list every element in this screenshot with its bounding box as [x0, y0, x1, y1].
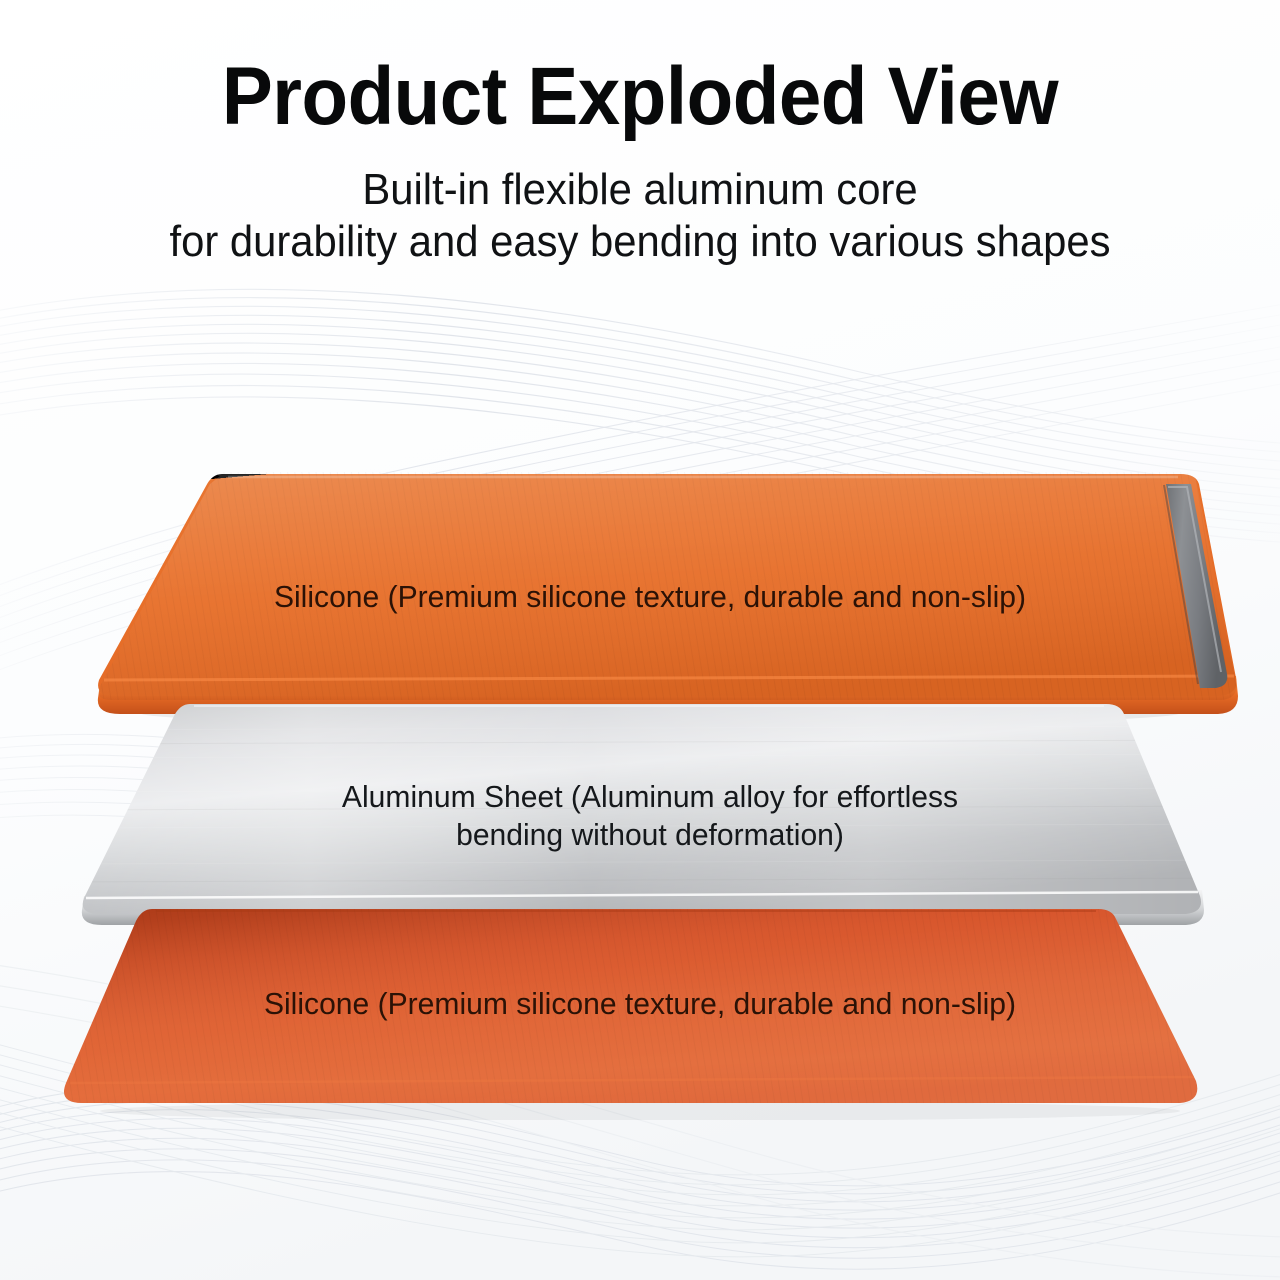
subtitle-line-2: for durability and easy bending into var…	[32, 216, 1248, 268]
page-title: Product Exploded View	[45, 0, 1235, 138]
subtitle-line-1: Built-in flexible aluminum core	[32, 164, 1248, 216]
aluminum-sheet-shape	[40, 700, 1260, 940]
page-subtitle: Built-in flexible aluminum core for dura…	[32, 138, 1248, 268]
layer-bottom-silicone: Silicone (Premium silicone texture, dura…	[20, 905, 1260, 1120]
header-block: Product Exploded View Built-in flexible …	[0, 0, 1280, 268]
bottom-silicone-slab-shape	[20, 905, 1260, 1120]
product-exploded-view-infographic: Product Exploded View Built-in flexible …	[0, 0, 1280, 1280]
layer-aluminum-sheet: Aluminum Sheet (Aluminum alloy for effor…	[40, 700, 1260, 940]
